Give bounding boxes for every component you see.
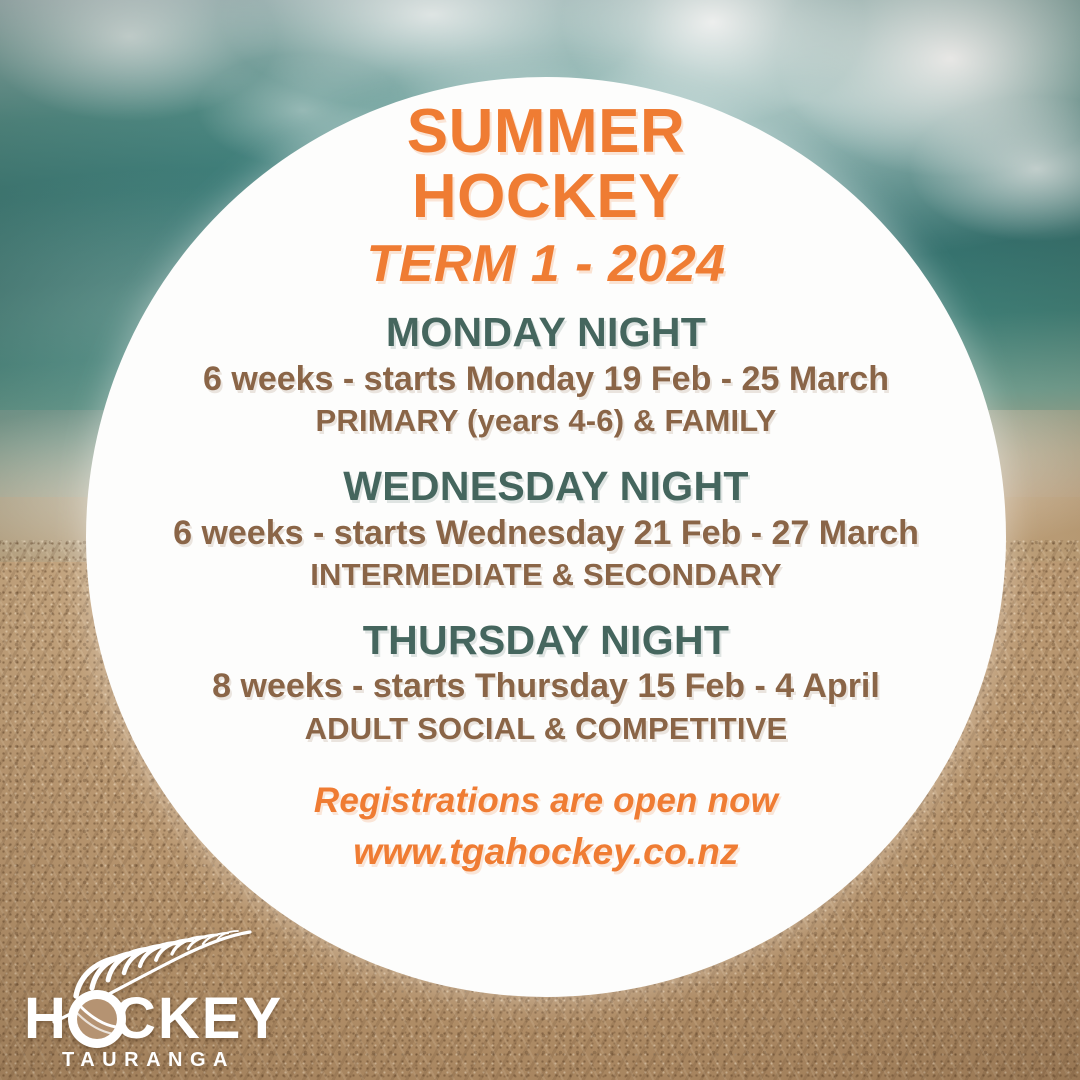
session-monday: MONDAY NIGHT 6 weeks - starts Monday 19 …	[203, 310, 889, 440]
registration-url[interactable]: www.tgahockey.co.nz	[314, 831, 778, 873]
logo-wordmark: H CKEY	[24, 986, 283, 1051]
registration-open-text: Registrations are open now	[314, 781, 778, 821]
session-heading: MONDAY NIGHT	[203, 310, 889, 356]
hockey-ball-icon	[68, 990, 126, 1048]
session-groups: ADULT SOCIAL & COMPETITIVE	[212, 710, 880, 747]
poster-subtitle: TERM 1 - 2024	[366, 234, 725, 294]
session-wednesday: WEDNESDAY NIGHT 6 weeks - starts Wednesd…	[173, 464, 919, 594]
poster-title-line2: HOCKEY	[412, 166, 680, 227]
registration-call-to-action: Registrations are open now www.tgahockey…	[314, 781, 778, 873]
session-dates: 8 weeks - starts Thursday 15 Feb - 4 Apr…	[212, 666, 880, 707]
session-groups: PRIMARY (years 4-6) & FAMILY	[203, 402, 889, 439]
session-dates: 6 weeks - starts Monday 19 Feb - 25 Marc…	[203, 359, 889, 400]
poster-content: SUMMER HOCKEY TERM 1 - 2024 MONDAY NIGHT…	[86, 77, 1006, 997]
logo-subtext: TAURANGA	[62, 1049, 235, 1071]
session-groups: INTERMEDIATE & SECONDARY	[173, 556, 919, 593]
session-heading: WEDNESDAY NIGHT	[173, 464, 919, 510]
session-heading: THURSDAY NIGHT	[212, 618, 880, 664]
svg-text:H: H	[24, 986, 68, 1051]
session-thursday: THURSDAY NIGHT 8 weeks - starts Thursday…	[212, 618, 880, 748]
summer-hockey-poster: SUMMER HOCKEY TERM 1 - 2024 MONDAY NIGHT…	[0, 0, 1080, 1080]
poster-title-line1: SUMMER	[407, 101, 686, 162]
hockey-tauranga-logo: H CKEY TAURANGA	[18, 926, 318, 1076]
session-dates: 6 weeks - starts Wednesday 21 Feb - 27 M…	[173, 513, 919, 554]
svg-text:CKEY: CKEY	[114, 986, 283, 1051]
